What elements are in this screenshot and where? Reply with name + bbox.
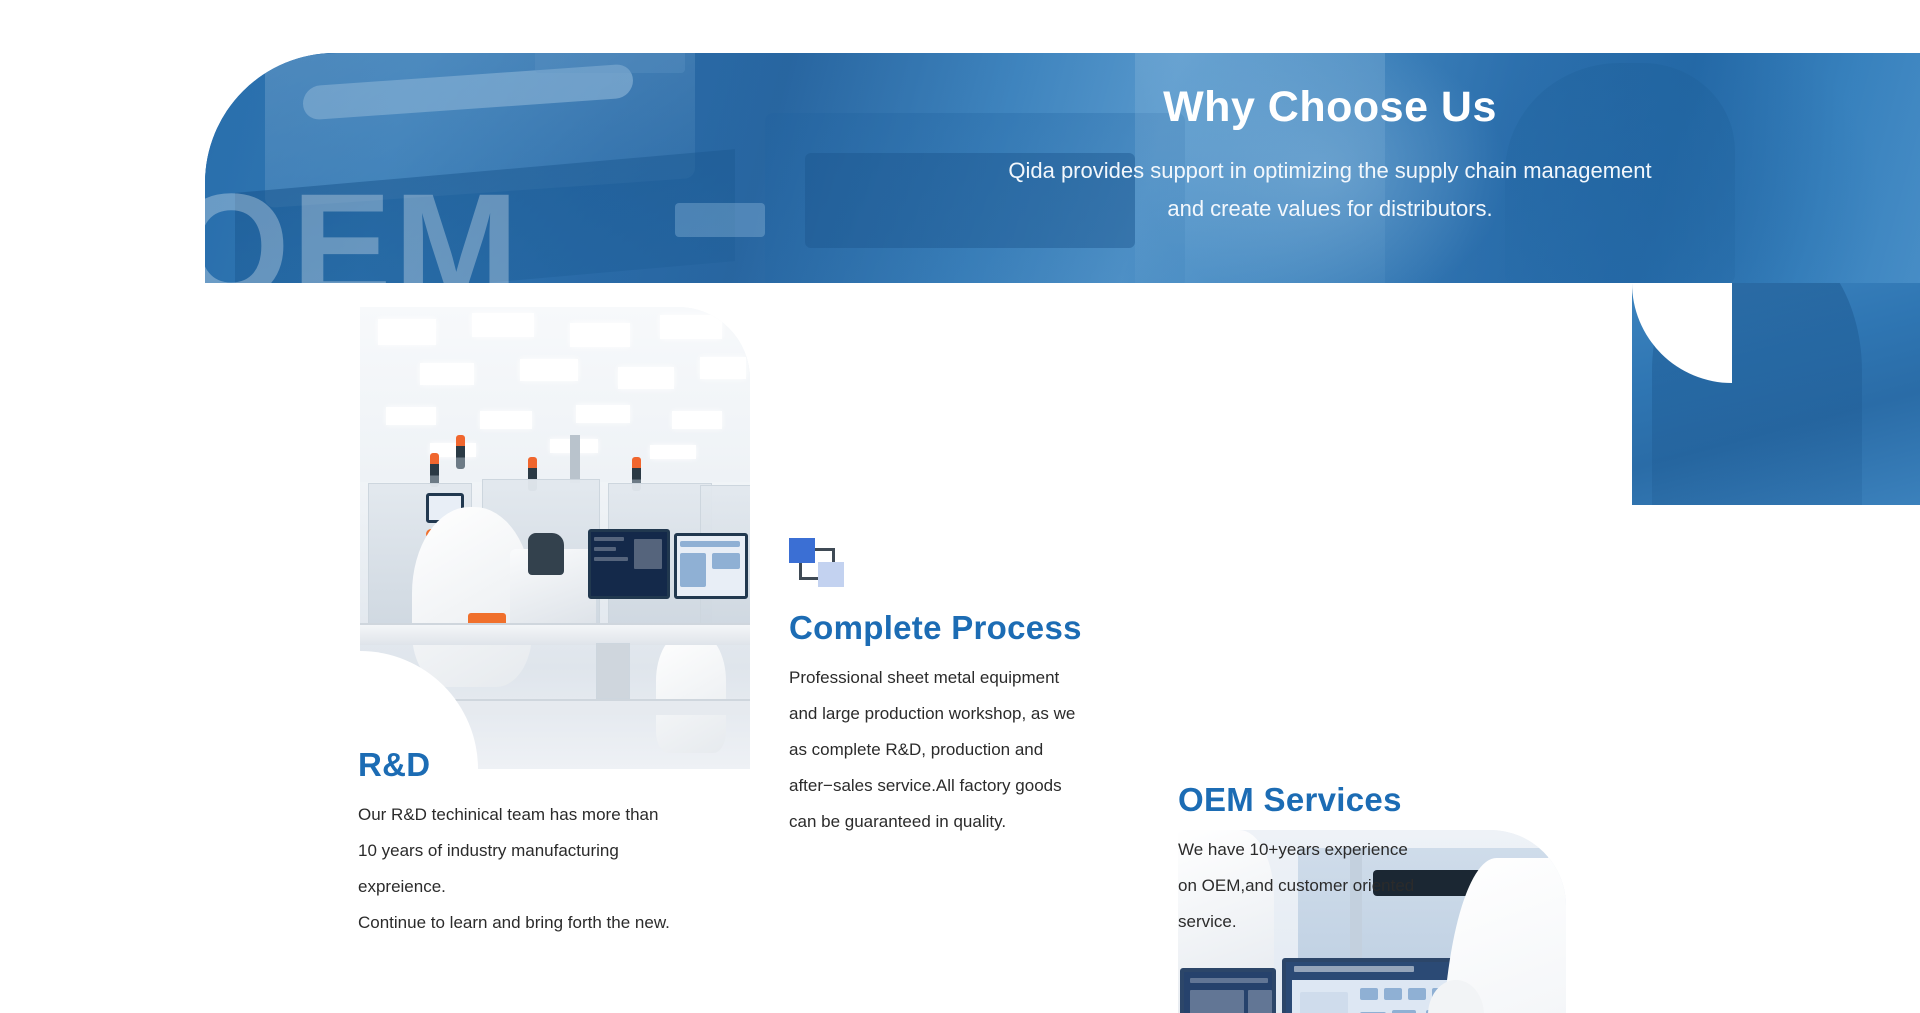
screen-block <box>634 539 662 569</box>
screen-line <box>594 547 616 551</box>
monitor-dark <box>1180 968 1276 1013</box>
ceiling-light <box>378 319 436 345</box>
ceiling-light <box>520 359 578 381</box>
ceiling-light <box>570 323 630 347</box>
complete-process-title: Complete Process <box>789 608 1149 648</box>
ceiling-light <box>660 315 722 339</box>
screen-block <box>680 541 740 547</box>
ceiling-light <box>472 313 534 337</box>
technician-figure <box>656 633 726 753</box>
hero-subtitle: Qida provides support in optimizing the … <box>880 152 1780 227</box>
ceiling-light <box>650 445 696 459</box>
rd-body-line: Our R&D techinical team has more than <box>358 797 788 833</box>
ceiling-light <box>480 411 532 429</box>
microscope-head <box>528 533 564 575</box>
two-squares-icon <box>789 538 845 590</box>
oem-body-line: service. <box>1178 904 1508 940</box>
bin <box>596 643 630 699</box>
ceiling-light <box>672 411 722 429</box>
complete-process-body-line: and large production workshop, as we <box>789 696 1149 732</box>
complete-process-body-line: Professional sheet metal equipment <box>789 660 1149 696</box>
hero-copy: Why Choose Us Qida provides support in o… <box>880 83 1780 227</box>
ceiling-light <box>420 363 474 385</box>
rd-title: R&D <box>358 745 788 785</box>
page-title: Why Choose Us <box>880 83 1780 132</box>
screen-line <box>594 537 624 541</box>
rd-body-line: expreience. <box>358 869 788 905</box>
complete-process-body-line: can be guaranteed in quality. <box>789 804 1149 840</box>
oem-body: We have 10+years experience on OEM,and c… <box>1178 832 1508 940</box>
screen-block <box>712 553 740 569</box>
hero-subtitle-line-2: and create values for distributors. <box>880 190 1780 227</box>
lab-bench <box>360 623 750 645</box>
hero-banner: OEM Why Choose Us Qida provides support … <box>205 53 1920 283</box>
ceiling-light <box>576 405 630 423</box>
ceiling-light <box>618 367 674 389</box>
hero-subtitle-line-1: Qida provides support in optimizing the … <box>1008 158 1651 183</box>
oem-text-block: OEM Services We have 10+years experience… <box>1178 780 1508 940</box>
oem-watermark-text: OEM <box>205 171 521 283</box>
ceiling-beam <box>570 435 580 483</box>
oem-body-line: on OEM,and customer oriented <box>1178 868 1508 904</box>
screen-line <box>594 557 628 561</box>
rd-text-block: R&D Our R&D techinical team has more tha… <box>358 745 788 941</box>
rd-body: Our R&D techinical team has more than 10… <box>358 797 788 941</box>
why-choose-us-page: OEM Why Choose Us Qida provides support … <box>0 0 1920 1013</box>
screen-block <box>680 553 706 587</box>
rd-card-image <box>360 307 750 769</box>
square-solid-blue <box>789 538 815 563</box>
square-pale-blue <box>818 562 844 587</box>
complete-process-body-line: after−sales service.All factory goods <box>789 768 1149 804</box>
ceiling-light <box>386 407 436 425</box>
rd-body-line: Continue to learn and bring forth the ne… <box>358 905 788 941</box>
complete-process-body-line: as complete R&D, production and <box>789 732 1149 768</box>
signal-lamp <box>456 435 465 469</box>
ceiling-light <box>700 357 746 379</box>
oem-body-line: We have 10+years experience <box>1178 832 1508 868</box>
complete-process-text-block: Complete Process Professional sheet meta… <box>789 608 1149 840</box>
hero-corner-cutout <box>1475 283 1635 443</box>
oem-title: OEM Services <box>1178 780 1508 820</box>
complete-process-body: Professional sheet metal equipment and l… <box>789 660 1149 840</box>
signal-lamp <box>430 453 439 487</box>
rd-body-line: 10 years of industry manufacturing <box>358 833 788 869</box>
